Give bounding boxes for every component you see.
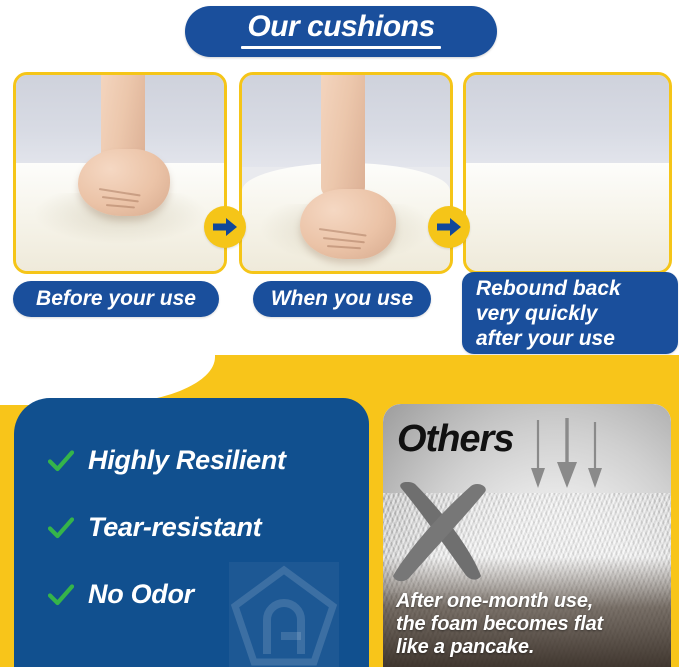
foam-surface-flat <box>466 163 669 271</box>
background-wall <box>466 75 669 167</box>
knuckle-line <box>323 237 365 243</box>
knuckle-line <box>327 245 361 249</box>
others-caption-line3: like a pancake. <box>396 636 662 659</box>
step-label-after-line2: very quickly <box>476 301 597 326</box>
feature-label: Tear-resistant <box>88 512 261 543</box>
check-icon <box>48 584 74 606</box>
step-label-after-line3: after your use <box>476 326 615 351</box>
feature-item: Tear-resistant <box>48 501 286 554</box>
pentagon-house-logo-icon <box>229 562 339 667</box>
check-icon <box>48 450 74 472</box>
photo-row <box>0 72 679 268</box>
infographic-root: Our cushions <box>0 0 679 667</box>
features-card: Highly Resilient Tear-resistant No Odor <box>14 398 369 667</box>
title-underline <box>241 46 441 49</box>
down-arrow-icon <box>529 418 609 496</box>
arrow-right-icon <box>204 206 246 248</box>
others-comparison-panel: Others After one-month use, th <box>383 404 671 667</box>
step-label-during: When you use <box>253 281 431 317</box>
step-label-after-line1: Rebound back <box>476 276 621 301</box>
others-caption: After one-month use, the foam becomes fl… <box>396 590 662 659</box>
step-label-after: Rebound back very quickly after your use <box>462 272 678 354</box>
check-icon <box>48 517 74 539</box>
page-title: Our cushions <box>247 12 434 42</box>
knuckle-line <box>319 228 367 237</box>
others-title: Others <box>397 418 513 461</box>
page-title-banner: Our cushions <box>185 6 497 57</box>
x-brushstroke-icon <box>389 482 511 592</box>
feature-item: Highly Resilient <box>48 434 286 487</box>
feature-label: Highly Resilient <box>88 445 286 476</box>
photo-before-use <box>13 72 227 274</box>
fist-pressing <box>300 189 396 260</box>
knuckle-line <box>106 204 135 209</box>
knuckle-line <box>102 196 139 202</box>
feature-label: No Odor <box>88 579 194 610</box>
foam-scene-rebounded <box>466 75 669 271</box>
photo-after-rebound <box>463 72 672 274</box>
foam-scene-pressed <box>242 75 450 271</box>
others-caption-line1: After one-month use, <box>396 590 662 613</box>
photo-when-you-use <box>239 72 453 274</box>
fist <box>78 149 170 216</box>
forearm <box>321 72 365 197</box>
others-caption-line2: the foam becomes flat <box>396 613 662 636</box>
arrow-right-icon <box>428 206 470 248</box>
step-label-before: Before your use <box>13 281 219 317</box>
foam-scene-before <box>16 75 224 271</box>
